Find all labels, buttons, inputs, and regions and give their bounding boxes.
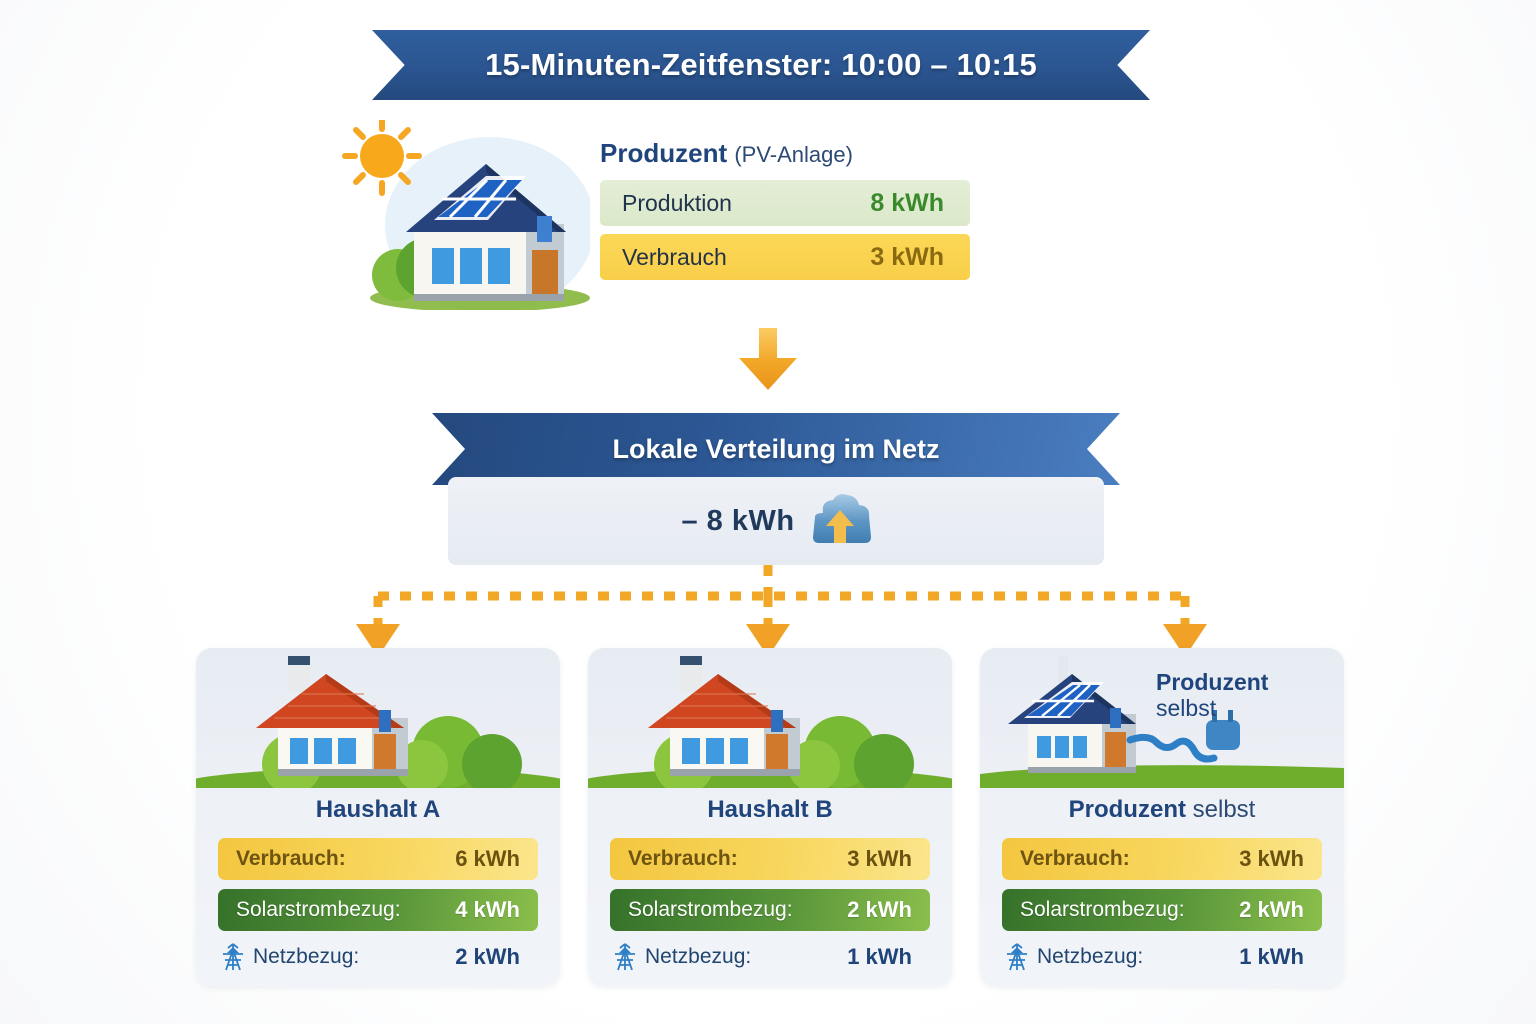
card-overlay-label: Produzent selbst bbox=[1156, 670, 1326, 722]
card-title-main: Haushalt B bbox=[707, 796, 832, 823]
metric-netzbezug-value: 2 kWh bbox=[455, 944, 520, 970]
producer-consumption-label: Verbrauch bbox=[622, 244, 727, 271]
card-title-main: Haushalt A bbox=[316, 796, 440, 823]
metric-netzbezug: Netzbezug: 1 kWh bbox=[610, 940, 930, 972]
card-title-light: selbst bbox=[1186, 796, 1255, 823]
sun-icon bbox=[345, 120, 419, 193]
infographic-canvas: 15-Minuten-Zeitfenster: 10:00 – 10:15 bbox=[0, 0, 1536, 1024]
card-overlay-light: selbst bbox=[1156, 696, 1326, 722]
metric-solarstrombezug-label: Solarstrombezug: bbox=[236, 898, 401, 922]
metric-verbrauch: Verbrauch: 3 kWh bbox=[610, 838, 930, 880]
metric-netzbezug-label: Netzbezug: bbox=[1037, 945, 1143, 969]
producer-title-sub: (PV-Anlage) bbox=[734, 142, 853, 167]
metric-netzbezug: Netzbezug: 2 kWh bbox=[218, 940, 538, 972]
card-haushalt-b[interactable]: Haushalt B Verbrauch: 3 kWh Solarstrombe… bbox=[588, 648, 952, 986]
card-title: Produzent selbst bbox=[980, 796, 1344, 824]
producer-title-main: Produzent bbox=[600, 138, 727, 168]
metric-netzbezug-value: 1 kWh bbox=[1239, 944, 1304, 970]
metric-verbrauch-label: Verbrauch: bbox=[628, 847, 738, 871]
producer-info: Produzent (PV-Anlage) Produktion 8 kWh V… bbox=[600, 138, 970, 288]
metric-netzbezug-label: Netzbezug: bbox=[645, 945, 751, 969]
producer-production-value: 8 kWh bbox=[870, 189, 944, 218]
house-icon bbox=[588, 648, 952, 788]
metric-solarstrombezug-label: Solarstrombezug: bbox=[1020, 898, 1185, 922]
household-cards: Haushalt A Verbrauch: 6 kWh Solarstrombe… bbox=[196, 648, 1344, 986]
producer-consumption-value: 3 kWh bbox=[870, 243, 944, 272]
producer-title: Produzent (PV-Anlage) bbox=[600, 138, 970, 169]
metric-verbrauch: Verbrauch: 6 kWh bbox=[218, 838, 538, 880]
pv-house-icon bbox=[330, 120, 590, 310]
metric-netzbezug: Netzbezug: 1 kWh bbox=[1002, 940, 1322, 972]
card-title: Haushalt A bbox=[196, 796, 560, 824]
metric-solarstrombezug: Solarstrombezug: 2 kWh bbox=[610, 889, 930, 931]
metric-solarstrombezug: Solarstrombezug: 4 kWh bbox=[218, 889, 538, 931]
distribution-value: – 8 kWh bbox=[681, 505, 794, 538]
metric-netzbezug-label: Netzbezug: bbox=[253, 945, 359, 969]
metric-verbrauch: Verbrauch: 3 kWh bbox=[1002, 838, 1322, 880]
metric-verbrauch-value: 6 kWh bbox=[455, 846, 520, 872]
card-metrics: Verbrauch: 6 kWh Solarstrombezug: 4 kWh bbox=[218, 838, 538, 972]
metric-verbrauch-label: Verbrauch: bbox=[236, 847, 346, 871]
title-banner: 15-Minuten-Zeitfenster: 10:00 – 10:15 bbox=[372, 30, 1150, 100]
pylon-icon bbox=[1004, 942, 1030, 972]
producer-section: Produzent (PV-Anlage) Produktion 8 kWh V… bbox=[330, 120, 970, 315]
metric-solarstrombezug-value: 4 kWh bbox=[455, 897, 520, 923]
metric-netzbezug-value: 1 kWh bbox=[847, 944, 912, 970]
metric-verbrauch-value: 3 kWh bbox=[847, 846, 912, 872]
distribution-banner: Lokale Verteilung im Netz bbox=[432, 413, 1120, 485]
metric-solarstrombezug-value: 2 kWh bbox=[1239, 897, 1304, 923]
card-metrics: Verbrauch: 3 kWh Solarstrombezug: 2 kWh bbox=[1002, 838, 1322, 972]
metric-solarstrombezug: Solarstrombezug: 2 kWh bbox=[1002, 889, 1322, 931]
metric-verbrauch-label: Verbrauch: bbox=[1020, 847, 1130, 871]
cloud-upload-icon bbox=[809, 493, 871, 549]
producer-consumption-row: Verbrauch 3 kWh bbox=[600, 234, 970, 280]
metric-solarstrombezug-value: 2 kWh bbox=[847, 897, 912, 923]
card-title-main: Produzent bbox=[1069, 796, 1186, 823]
house-icon bbox=[196, 648, 560, 788]
card-produzent-selbst[interactable]: Produzent selbst Produzent selbst Verbra… bbox=[980, 648, 1344, 986]
distribution-banner-text: Lokale Verteilung im Netz bbox=[612, 434, 939, 465]
metric-solarstrombezug-label: Solarstrombezug: bbox=[628, 898, 793, 922]
producer-production-row: Produktion 8 kWh bbox=[600, 180, 970, 226]
card-title: Haushalt B bbox=[588, 796, 952, 824]
producer-production-label: Produktion bbox=[622, 190, 732, 217]
title-banner-text: 15-Minuten-Zeitfenster: 10:00 – 10:15 bbox=[485, 47, 1037, 83]
pylon-icon bbox=[612, 942, 638, 972]
metric-verbrauch-value: 3 kWh bbox=[1239, 846, 1304, 872]
card-metrics: Verbrauch: 3 kWh Solarstrombezug: 2 kWh bbox=[610, 838, 930, 972]
down-arrow-icon bbox=[735, 328, 801, 390]
pylon-icon bbox=[220, 942, 246, 972]
card-haushalt-a[interactable]: Haushalt A Verbrauch: 6 kWh Solarstrombe… bbox=[196, 648, 560, 986]
distribution-panel: – 8 kWh bbox=[448, 477, 1104, 565]
card-overlay-main: Produzent bbox=[1156, 670, 1326, 696]
